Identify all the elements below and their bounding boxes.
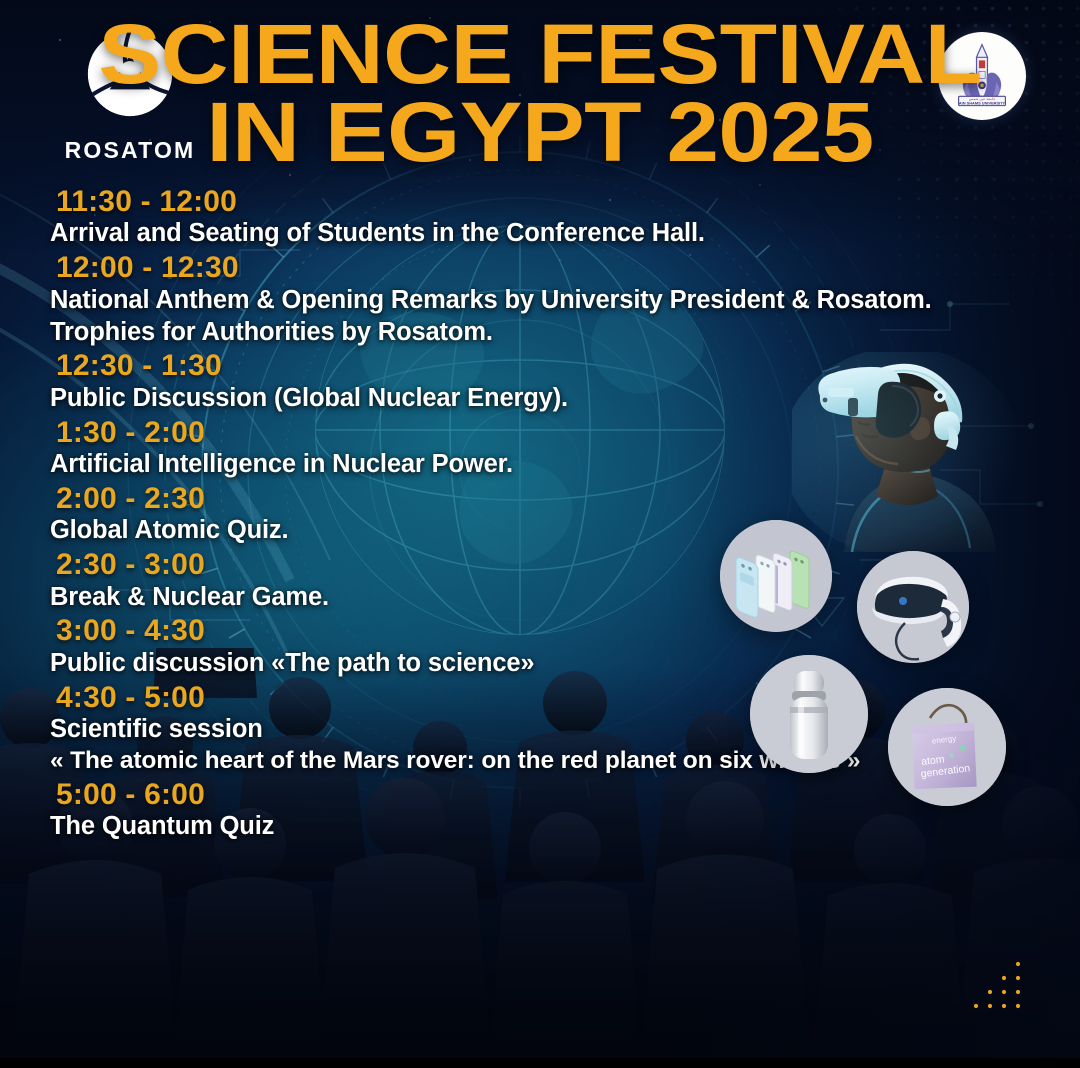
schedule-description: The Quantum Quiz bbox=[50, 811, 1060, 843]
vr-person-photo bbox=[792, 352, 1017, 552]
poster-title: SCIENCE FESTIVAL IN EGYPT 2025 bbox=[0, 18, 1080, 168]
vr-headset-icon bbox=[857, 551, 969, 663]
schedule-description-line2: Trophies for Authorities by Rosatom. bbox=[50, 317, 1060, 349]
vr-headset-product-circle bbox=[857, 551, 969, 663]
title-line-1: SCIENCE FESTIVAL bbox=[0, 18, 1080, 90]
power-banks-icon bbox=[720, 520, 832, 632]
tote-bag-product-circle: energy atom generation bbox=[888, 688, 1006, 806]
thermos-flask-product-circle bbox=[750, 655, 868, 773]
schedule-time: 11:30 - 12:00 bbox=[56, 186, 1060, 218]
schedule-item: 11:30 - 12:00 Arrival and Seating of Stu… bbox=[50, 186, 1060, 250]
schedule-description: National Anthem & Opening Remarks by Uni… bbox=[50, 285, 1060, 317]
power-banks-product-circle bbox=[720, 520, 832, 632]
schedule-item: 12:00 - 12:30 National Anthem & Opening … bbox=[50, 252, 1060, 348]
schedule-time: 12:00 - 12:30 bbox=[56, 252, 1060, 284]
title-line-2: IN EGYPT 2025 bbox=[0, 96, 1080, 168]
bottom-black-bar bbox=[0, 1058, 1080, 1068]
tote-bag-icon: energy atom generation bbox=[888, 688, 1006, 806]
gold-dot-accent bbox=[974, 956, 1034, 1016]
poster-canvas: ROSATOM جامعة عين شمس AIN SHAMS UNI bbox=[0, 0, 1080, 1068]
schedule-description: Arrival and Seating of Students in the C… bbox=[50, 218, 1060, 250]
thermos-flask-icon bbox=[750, 655, 868, 773]
